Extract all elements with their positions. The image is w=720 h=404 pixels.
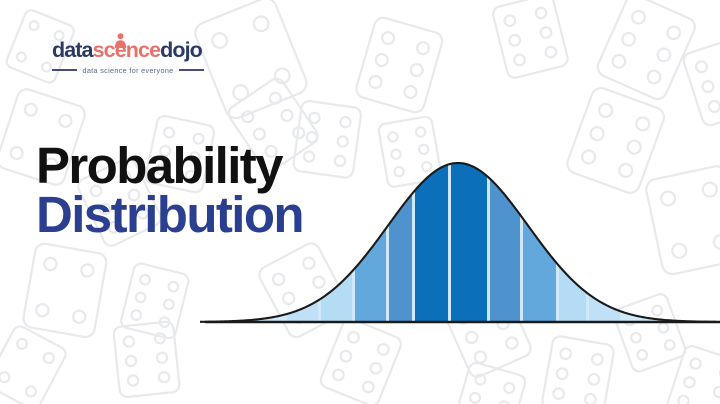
distribution-band <box>490 151 520 334</box>
person-figure-icon <box>114 33 127 48</box>
distribution-band <box>415 151 448 334</box>
page-title: Probability Distribution <box>36 142 303 240</box>
distribution-band <box>355 151 386 334</box>
logo-tagline-row: data science for everyone <box>52 66 204 75</box>
headline-line-probability: Probability <box>36 142 303 191</box>
logo-word-dojo: dojo <box>160 38 202 62</box>
distribution-band <box>451 151 487 334</box>
distribution-band <box>389 151 412 334</box>
tagline-rule-right <box>179 69 204 71</box>
logo-tagline: data science for everyone <box>82 66 173 75</box>
promo-banner: datascencedojo data science for everyone… <box>0 0 720 404</box>
logo-wordmark: datascencedojo <box>52 40 202 62</box>
distribution-band <box>559 151 586 334</box>
logo-word-data: data <box>52 38 93 62</box>
brand-logo[interactable]: datascencedojo data science for everyone <box>52 40 202 75</box>
headline-line-distribution: Distribution <box>36 191 303 240</box>
distribution-band <box>589 151 620 334</box>
distribution-band <box>321 151 352 334</box>
tagline-rule-left <box>52 69 77 71</box>
logo-word-sc: sc <box>93 38 115 62</box>
